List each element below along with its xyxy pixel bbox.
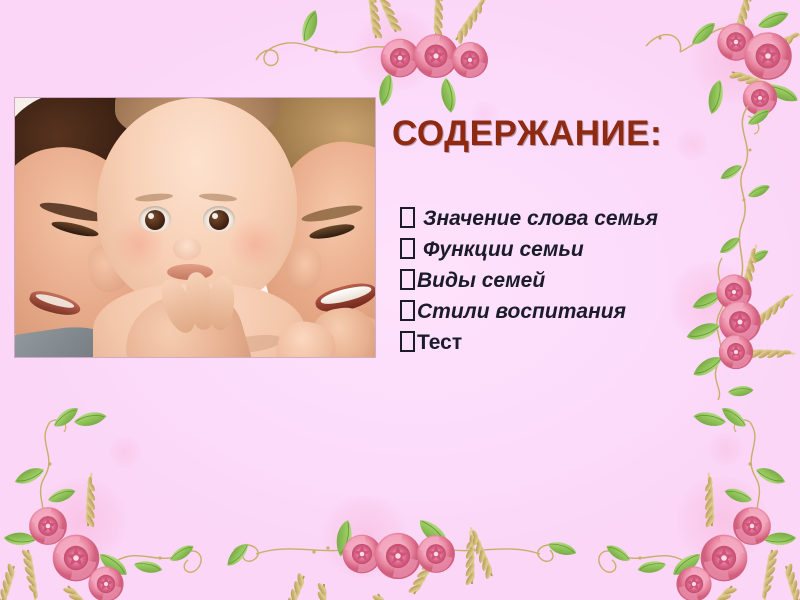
floral-corner-bottom-right	[586, 408, 800, 600]
watermark-bloom	[320, 496, 410, 578]
tofu-box-bullet-icon	[400, 269, 415, 290]
toc-item-4[interactable]: Стили воспитания	[400, 296, 700, 327]
watermark-bloom	[36, 478, 128, 564]
toc-item-label: Тест	[417, 331, 462, 354]
floral-corner-top-right	[640, 0, 800, 134]
toc-item-label: Значение слова семья	[423, 207, 658, 230]
toc-item-3[interactable]: Виды семей	[400, 265, 700, 296]
family-photo	[15, 98, 375, 357]
tofu-box-bullet-icon	[400, 300, 415, 321]
toc-item-1[interactable]: Значение слова семья	[400, 203, 700, 234]
watermark-bloom	[690, 18, 780, 104]
watermark-bloom	[708, 432, 744, 466]
tofu-box-bullet-icon	[400, 207, 415, 228]
toc-item-label: Стили воспитания	[417, 300, 626, 323]
toc-item-2[interactable]: Функции семьи	[400, 234, 700, 265]
floral-spray-bottom-center	[228, 498, 568, 600]
floral-vine-right-edge	[704, 104, 794, 284]
tofu-box-bullet-icon	[400, 238, 415, 259]
tofu-box-bullet-icon	[400, 331, 415, 352]
toc-item-5[interactable]: Тест	[400, 327, 700, 358]
photo-canvas	[15, 98, 375, 357]
toc-item-label: Функции семьи	[423, 238, 584, 261]
floral-corner-bottom-left	[0, 408, 222, 600]
watermark-bloom	[676, 476, 768, 564]
watermark-bloom	[676, 128, 710, 160]
presentation-slide: СОДЕРЖАНИЕ: Значение слова семья Функции…	[0, 0, 800, 600]
watermark-bloom	[108, 436, 142, 468]
watermark-bloom	[352, 10, 440, 92]
table-of-contents: Значение слова семья Функции семьи Виды …	[400, 203, 700, 358]
page-title: СОДЕРЖАНИЕ:	[392, 114, 662, 154]
toc-item-label: Виды семей	[417, 269, 545, 292]
